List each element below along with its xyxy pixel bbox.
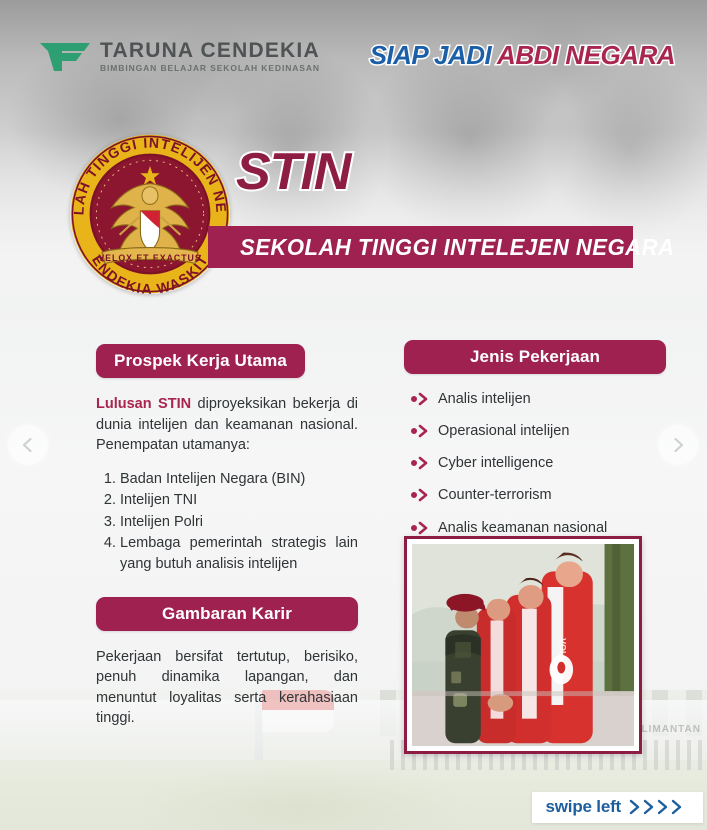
list-item: Analis keamanan nasional <box>404 519 666 537</box>
prospek-paragraph-accent: Lulusan STIN <box>96 396 191 412</box>
list-item-label: Counter-terrorism <box>438 487 552 503</box>
section-title-jenis-pekerjaan: Jenis Pekerjaan <box>404 340 666 374</box>
dot-chevron-icon <box>410 488 432 502</box>
svg-text:VELOX ET EXACTUS: VELOX ET EXACTUS <box>98 253 201 263</box>
dot-chevron-icon <box>410 521 432 535</box>
swipe-left-label: swipe left <box>546 797 621 817</box>
brand-name: TARUNA CENDEKIA <box>100 40 320 61</box>
column-left: Prospek Kerja Utama Lulusan STIN diproye… <box>96 344 358 729</box>
section-title-gambaran-karir: Gambaran Karir <box>96 597 358 631</box>
list-item: Operasional intelijen <box>404 422 666 440</box>
list-item-label: Analis keamanan nasional <box>438 520 607 536</box>
list-item: Lembaga pemerintah strategis lain yang b… <box>120 533 358 574</box>
list-item: Cyber intelligence <box>404 454 666 472</box>
prospek-paragraph: Lulusan STIN diproyeksikan bekerja di du… <box>96 394 358 456</box>
list-item: Intelijen Polri <box>120 512 358 533</box>
header-tagline: SIAP JADI ABDI NEGARA <box>370 42 675 68</box>
jenis-pekerjaan-list: Analis intelijen Operasional intelijen C… <box>404 390 666 537</box>
chevron-left-icon <box>20 437 36 453</box>
ceremony-photo-image: VOLI <box>412 544 634 746</box>
dot-chevron-icon <box>410 424 432 438</box>
swipe-chevrons <box>629 798 691 816</box>
list-item-label: Analis intelijen <box>438 391 531 407</box>
slide-stin: KALIMANTAN TARUNA CENDEKIA BIMBINGAN BEL… <box>0 0 707 830</box>
list-item: Intelijen TNI <box>120 490 358 511</box>
dot-chevron-icon <box>410 392 432 406</box>
dot-chevron-icon <box>410 456 432 470</box>
gambaran-karir-paragraph: Pekerjaan bersifat tertutup, berisiko, p… <box>96 647 358 729</box>
list-item: Counter-terrorism <box>404 486 666 504</box>
list-item: Badan Intelijen Negara (BIN) <box>120 469 358 490</box>
next-slide-button[interactable] <box>658 425 698 465</box>
chevron-right-icon <box>670 437 686 453</box>
content: Prospek Kerja Utama Lulusan STIN diproye… <box>0 330 707 790</box>
prev-slide-button[interactable] <box>8 425 48 465</box>
photo-frame: VOLI <box>404 536 642 754</box>
prospek-list: Badan Intelijen Negara (BIN) Intelijen T… <box>96 469 358 575</box>
section-title-prospek: Prospek Kerja Utama <box>96 344 305 378</box>
brand-tagline: BIMBINGAN BELAJAR SEKOLAH KEDINASAN <box>100 64 320 73</box>
hero-banner-title: SEKOLAH TINGGI INTELEJEN NEGARA <box>240 234 674 261</box>
tagline-part-blue: SIAP JADI <box>370 40 492 70</box>
hero-banner: SEKOLAH TINGGI INTELEJEN NEGARA <box>208 226 633 268</box>
taruna-cendekia-logo-icon <box>40 41 92 71</box>
brand-logo: TARUNA CENDEKIA BIMBINGAN BELAJAR SEKOLA… <box>40 40 320 73</box>
list-item: Analis intelijen <box>404 390 666 408</box>
list-item-label: Operasional intelijen <box>438 423 569 439</box>
ceremony-photo: VOLI <box>412 544 634 746</box>
svg-text:VOLI: VOLI <box>557 638 567 659</box>
double-chevron-right-icon <box>629 798 691 816</box>
stin-emblem-icon: SEKOLAH TINGGI INTELIJEN NEGARA CENDEKIA… <box>70 134 230 294</box>
swipe-left-indicator[interactable]: swipe left <box>532 792 703 823</box>
hero-acronym: STIN <box>236 146 350 198</box>
hero: SEKOLAH TINGGI INTELIJEN NEGARA CENDEKIA… <box>0 130 707 295</box>
column-right: Jenis Pekerjaan Analis intelijen Operasi… <box>404 340 666 551</box>
list-item-label: Cyber intelligence <box>438 455 553 471</box>
header: TARUNA CENDEKIA BIMBINGAN BELAJAR SEKOLA… <box>0 0 707 100</box>
tagline-part-red: ABDI NEGARA <box>497 40 675 70</box>
